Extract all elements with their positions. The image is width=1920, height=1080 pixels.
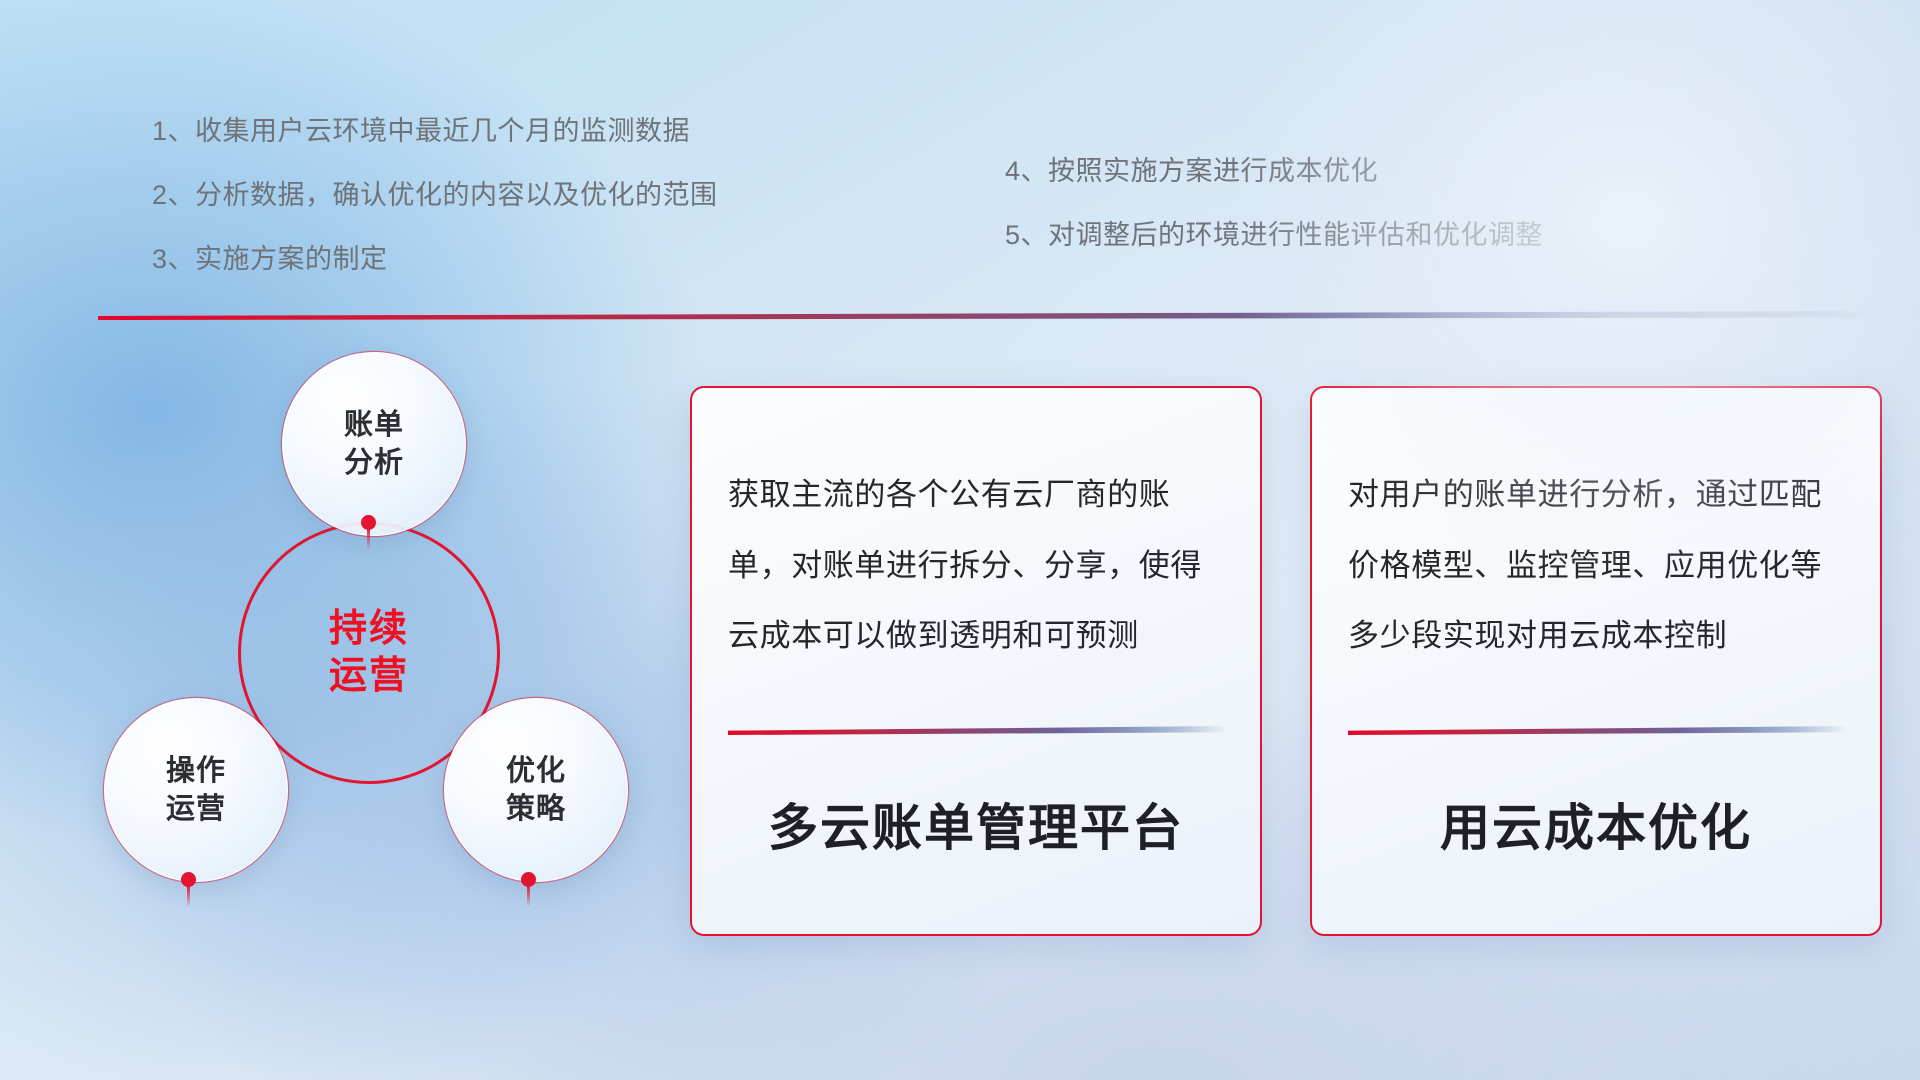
node-tail-right-icon bbox=[527, 885, 530, 907]
card-left-title: 多云账单管理平台 bbox=[692, 788, 1260, 860]
bubble-operations[interactable]: 操作 运营 bbox=[104, 698, 288, 882]
card-right-title: 用云成本优化 bbox=[1312, 788, 1880, 860]
bubble-left-line-1: 操作 bbox=[166, 752, 226, 790]
card-right-body: 对用户的账单进行分析，通过匹配价格模型、监控管理、应用优化等多少段实现对用云成本… bbox=[1348, 460, 1850, 672]
section-divider bbox=[98, 311, 1888, 320]
card-multi-cloud-billing-platform[interactable]: 获取主流的各个公有云厂商的账单，对账单进行拆分、分享，使得云成本可以做到透明和可… bbox=[690, 386, 1262, 936]
step-item-4: 4、按照实施方案进行成本优化 bbox=[1005, 158, 1543, 185]
node-tail-top-icon bbox=[367, 528, 370, 550]
node-tail-left-icon bbox=[187, 885, 190, 907]
center-label-line-2: 运营 bbox=[329, 653, 409, 700]
card-right-accent-rule bbox=[1348, 726, 1846, 735]
venn-diagram: 持续 运营 账单 分析 操作 运营 优化 策略 bbox=[96, 350, 716, 950]
bubble-top-line-1: 账单 bbox=[344, 406, 404, 444]
bubble-right-line-1: 优化 bbox=[506, 752, 566, 790]
steps-right-column: 4、按照实施方案进行成本优化 5、对调整后的环境进行性能评估和优化调整 bbox=[1005, 158, 1543, 249]
step-item-3: 3、实施方案的制定 bbox=[152, 246, 718, 273]
steps-left-column: 1、收集用户云环境中最近几个月的监测数据 2、分析数据，确认优化的内容以及优化的… bbox=[152, 118, 718, 273]
step-item-1: 1、收集用户云环境中最近几个月的监测数据 bbox=[152, 118, 718, 145]
bubble-left-line-2: 运营 bbox=[166, 790, 226, 828]
bubble-optimization-strategy[interactable]: 优化 策略 bbox=[444, 698, 628, 882]
bubble-top-line-2: 分析 bbox=[344, 444, 404, 482]
node-dot-left-icon bbox=[181, 872, 196, 887]
center-label-line-1: 持续 bbox=[329, 606, 409, 653]
step-item-2: 2、分析数据，确认优化的内容以及优化的范围 bbox=[152, 182, 718, 209]
card-left-accent-rule bbox=[728, 726, 1226, 735]
slide-canvas: 1、收集用户云环境中最近几个月的监测数据 2、分析数据，确认优化的内容以及优化的… bbox=[0, 0, 1920, 1080]
node-dot-top-icon bbox=[361, 515, 376, 530]
card-cloud-cost-optimization[interactable]: 对用户的账单进行分析，通过匹配价格模型、监控管理、应用优化等多少段实现对用云成本… bbox=[1310, 386, 1882, 936]
node-dot-right-icon bbox=[521, 872, 536, 887]
bubble-billing-analysis[interactable]: 账单 分析 bbox=[282, 352, 466, 536]
bubble-right-line-2: 策略 bbox=[506, 790, 566, 828]
card-left-body: 获取主流的各个公有云厂商的账单，对账单进行拆分、分享，使得云成本可以做到透明和可… bbox=[728, 460, 1230, 672]
step-item-5: 5、对调整后的环境进行性能评估和优化调整 bbox=[1005, 222, 1543, 249]
